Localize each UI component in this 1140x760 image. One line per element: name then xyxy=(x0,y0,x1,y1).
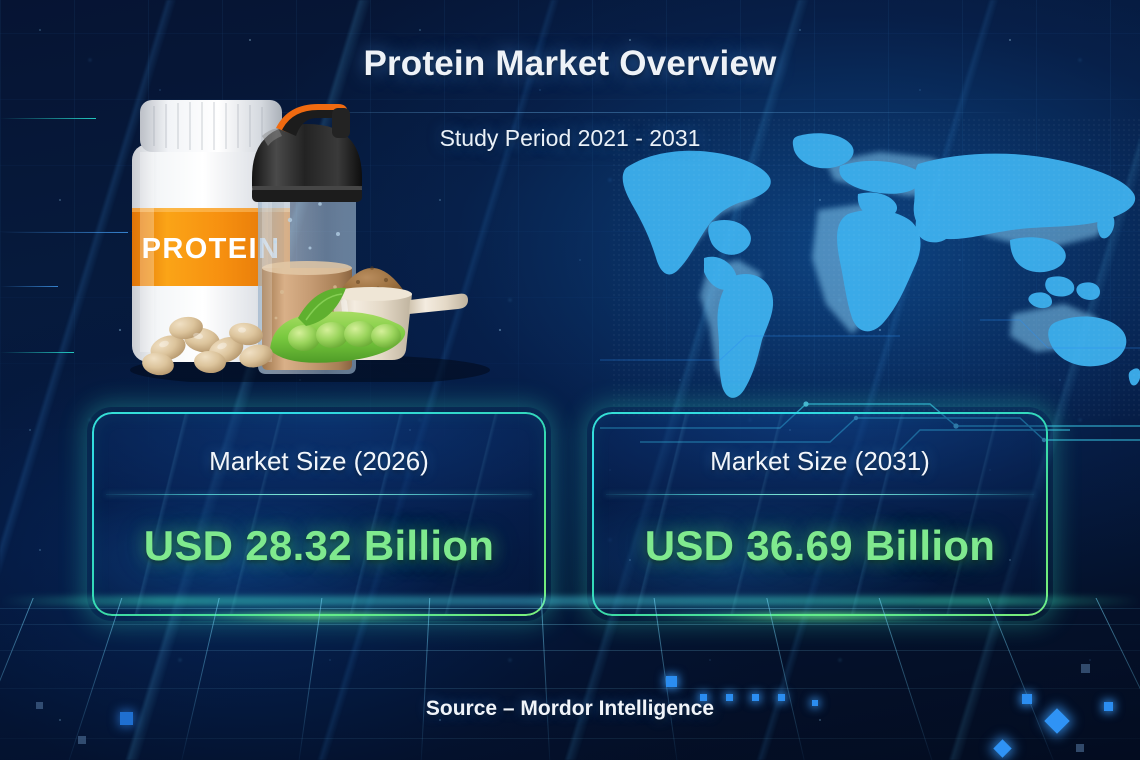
stat-card-2026[interactable]: Market Size (2026) USD 28.32 Billion xyxy=(92,412,546,616)
stat-card-label: Market Size (2031) xyxy=(592,446,1048,477)
glow-square xyxy=(1081,664,1090,673)
card-border xyxy=(92,412,546,616)
glow-square xyxy=(1076,744,1084,752)
card-texture xyxy=(94,414,544,614)
stat-card-value: USD 28.32 Billion xyxy=(92,522,546,570)
card-glow xyxy=(587,407,1053,621)
stat-card-value: USD 36.69 Billion xyxy=(592,522,1048,570)
card-glow xyxy=(87,407,551,621)
stat-card-label: Market Size (2026) xyxy=(92,446,546,477)
source-credit: Source – Mordor Intelligence xyxy=(0,697,1140,721)
card-texture xyxy=(594,414,1046,614)
stat-card-2031[interactable]: Market Size (2031) USD 36.69 Billion xyxy=(592,412,1048,616)
infographic-canvas: Protein Market Overview Study Period 202… xyxy=(0,0,1140,760)
perspective-floor xyxy=(0,598,1140,760)
card-border xyxy=(592,412,1048,616)
glow-square xyxy=(78,736,86,744)
stat-card-divider xyxy=(106,494,532,495)
stat-card-divider xyxy=(606,494,1034,495)
glow-square xyxy=(666,676,677,687)
